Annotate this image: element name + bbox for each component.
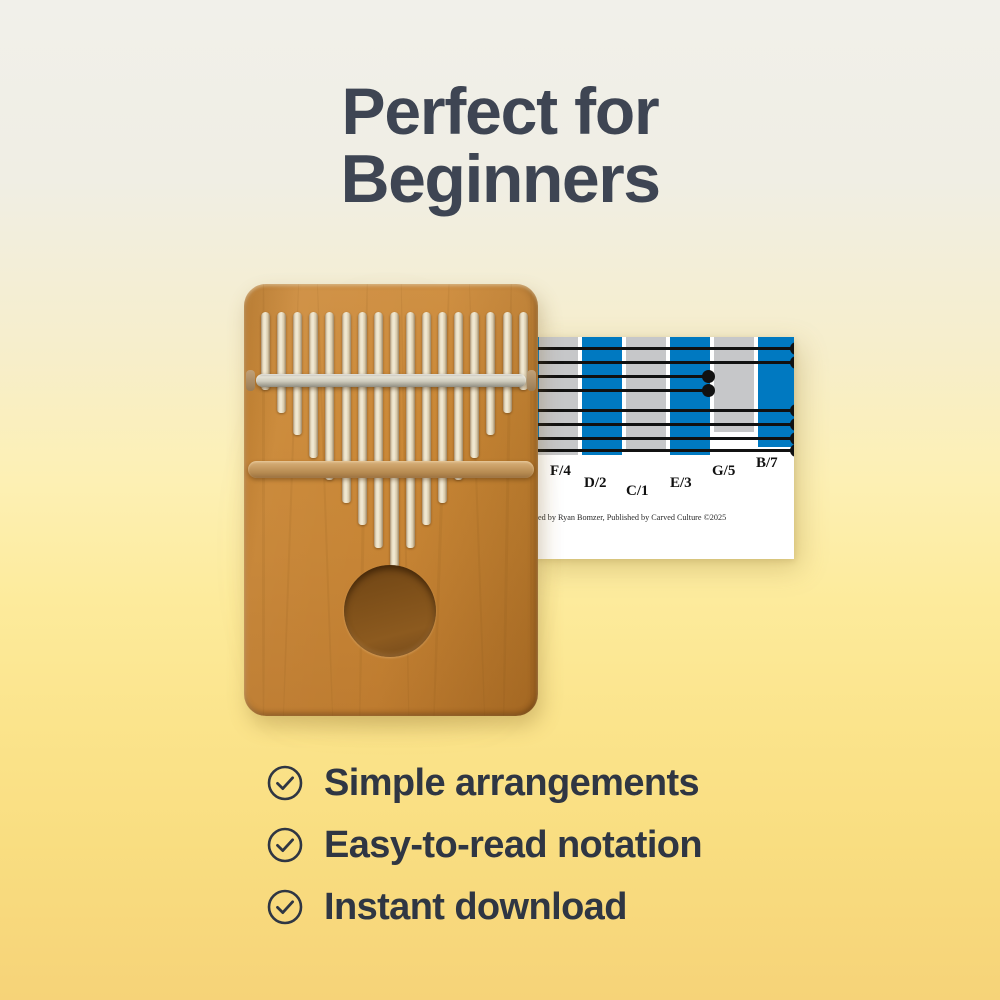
- kalimba-tine: [422, 312, 431, 525]
- kalimba-soundhole: [344, 565, 436, 657]
- kalimba-bridge-rod: [248, 461, 534, 478]
- tablature-note-head: [702, 384, 715, 397]
- kalimba-tine: [358, 312, 367, 525]
- tablature-staff-line: [534, 409, 794, 412]
- tablature-staff-line: [534, 347, 794, 350]
- tablature-column-G-5: [714, 337, 754, 432]
- tablature-staff-line: [534, 449, 794, 452]
- tablature-label-D-2: D/2: [584, 475, 607, 492]
- tablature-note-head: [790, 444, 794, 457]
- tablature-card: F/4D/2C/1E/3G/5B/7 ed by Ryan Bomzer, Pu…: [534, 337, 794, 559]
- feature-label: Instant download: [324, 888, 627, 926]
- kalimba-tine: [374, 312, 383, 548]
- kalimba-instrument: [244, 284, 538, 716]
- tablature-label-G-5: G/5: [712, 463, 735, 480]
- wood-grain-line: [530, 284, 532, 716]
- tablature-staff-line: [534, 375, 711, 378]
- feature-item: Instant download: [266, 876, 966, 938]
- title-line-1: Perfect for: [0, 78, 1000, 145]
- tablature-staff-line: [534, 389, 711, 392]
- tablature-label-F-4: F/4: [550, 463, 571, 480]
- tablature-column-C-1: [626, 337, 666, 449]
- check-circle-icon: [266, 826, 304, 864]
- kalimba-tine: [277, 312, 286, 413]
- feature-label: Simple arrangements: [324, 764, 699, 802]
- tablature-label-C-1: C/1: [626, 483, 649, 500]
- tablature-staff-line: [534, 361, 794, 364]
- tablature-staff-line: [534, 423, 794, 426]
- kalimba-tine: [454, 312, 463, 480]
- kalimba-tine: [503, 312, 512, 413]
- promo-graphic: Perfect for Beginners F/4D/2C/1E/3G/5B/7…: [0, 0, 1000, 1000]
- feature-list: Simple arrangementsEasy-to-read notation…: [266, 752, 966, 938]
- page-title: Perfect for Beginners: [0, 78, 1000, 215]
- kalimba-tine: [390, 312, 399, 570]
- feature-label: Easy-to-read notation: [324, 826, 702, 864]
- title-line-2: Beginners: [0, 145, 1000, 214]
- kalimba-tine: [325, 312, 334, 480]
- check-circle-icon: [266, 888, 304, 926]
- kalimba-metal-bar: [256, 374, 526, 387]
- tablature-column-B-7: [758, 337, 794, 447]
- tablature-note-head: [702, 370, 715, 383]
- feature-item: Simple arrangements: [266, 752, 966, 814]
- check-circle-icon: [266, 764, 304, 802]
- tablature-label-B-7: B/7: [756, 455, 778, 472]
- tablature-staff: [534, 337, 794, 457]
- tablature-staff-line: [534, 437, 794, 440]
- feature-item: Easy-to-read notation: [266, 814, 966, 876]
- tablature-credit: ed by Ryan Bomzer, Published by Carved C…: [534, 513, 794, 522]
- tablature-label-E-3: E/3: [670, 475, 692, 492]
- kalimba-tine: [406, 312, 415, 548]
